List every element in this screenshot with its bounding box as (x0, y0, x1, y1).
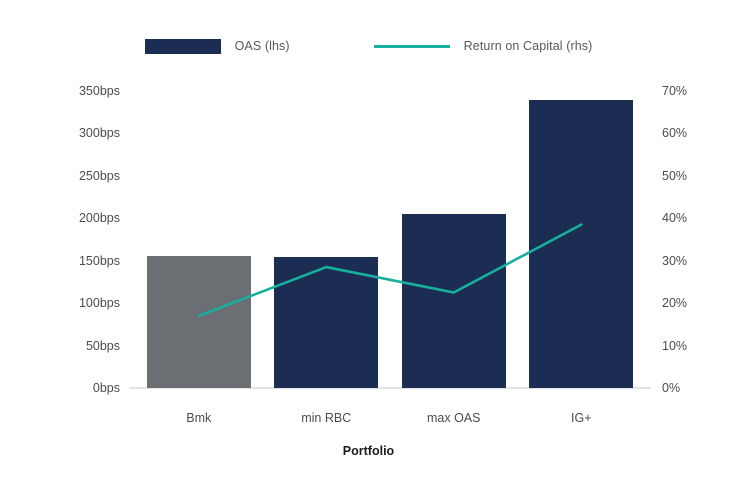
plot-area (135, 91, 645, 388)
right-axis-tick-6: 60% (662, 126, 732, 140)
right-axis-tick-0: 0% (662, 381, 732, 395)
x-axis-tick-min-rbc: min RBC (301, 411, 351, 425)
chart-legend: OAS (lhs) Return on Capital (rhs) (0, 34, 737, 58)
right-axis-tick-3: 30% (662, 254, 732, 268)
legend-item-return-on-capital[interactable]: Return on Capital (rhs) (374, 39, 593, 53)
right-axis-tick-2: 20% (662, 296, 732, 310)
left-axis-tick-0: 0bps (0, 381, 120, 395)
x-axis-title: Portfolio (0, 444, 737, 458)
left-axis-tick-5: 250bps (0, 169, 120, 183)
left-axis-tick-6: 300bps (0, 126, 120, 140)
x-axis-tick-max-oas: max OAS (427, 411, 481, 425)
legend-label-oas: OAS (lhs) (235, 39, 290, 53)
right-axis-tick-4: 40% (662, 211, 732, 225)
legend-item-oas[interactable]: OAS (lhs) (145, 39, 290, 54)
left-axis-tick-3: 150bps (0, 254, 120, 268)
legend-bar-swatch-icon (145, 39, 221, 54)
bar-max-oas[interactable] (402, 214, 506, 388)
chart-container: OAS (lhs) Return on Capital (rhs) 0bps50… (0, 0, 737, 480)
bar-min-rbc[interactable] (274, 257, 378, 388)
x-axis-tick-bmk: Bmk (186, 411, 211, 425)
right-axis-tick-5: 50% (662, 169, 732, 183)
x-axis-tick-ig-: IG+ (571, 411, 592, 425)
left-axis-tick-2: 100bps (0, 296, 120, 310)
left-axis-tick-4: 200bps (0, 211, 120, 225)
left-axis-tick-1: 50bps (0, 339, 120, 353)
legend-line-swatch-icon (374, 45, 450, 48)
right-axis-tick-1: 10% (662, 339, 732, 353)
left-axis-tick-7: 350bps (0, 84, 120, 98)
legend-label-return-on-capital: Return on Capital (rhs) (464, 39, 593, 53)
bar-bmk[interactable] (147, 256, 251, 388)
bar-ig-[interactable] (529, 100, 633, 389)
right-axis-tick-7: 70% (662, 84, 732, 98)
